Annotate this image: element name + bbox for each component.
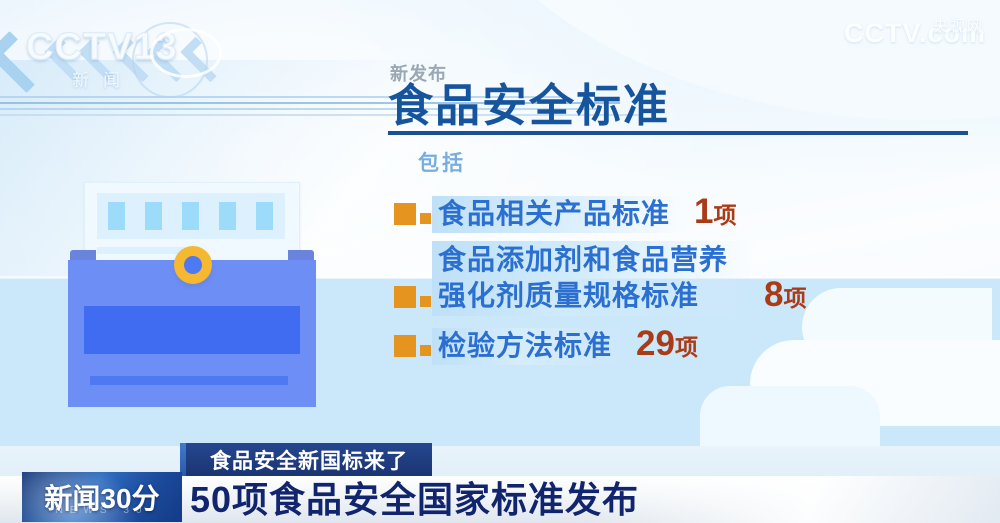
cloud-shape-c — [700, 386, 880, 446]
cctv-logo-text: CCTV — [26, 26, 133, 68]
folder-inner-panel — [84, 306, 300, 354]
lower-third-gloss — [580, 476, 1000, 523]
list-item: 食品添加剂和食品营养 强化剂质量规格标准 8项 — [392, 241, 992, 316]
cctv-com-watermark: 央视网 CCTV.com — [844, 18, 986, 49]
list-item-count-number: 29 — [636, 324, 675, 363]
standards-list: 食品相关产品标准 1项 食品添加剂和食品营养 强化剂质量规格标准 8项 — [392, 192, 992, 373]
list-item: 食品相关产品标准 1项 — [392, 192, 992, 233]
list-item-count-number: 1 — [694, 192, 713, 231]
list-item-label-line2: 强化剂质量规格标准 — [438, 278, 728, 314]
folder-clasp-ring-icon — [174, 246, 212, 284]
watermark-chinese-text: 央视网 — [933, 15, 984, 36]
list-item-count: 8项 — [764, 275, 806, 315]
list-item: 检验方法标准 29项 — [392, 324, 992, 365]
list-item-text-bar: 食品相关产品标准 — [432, 196, 684, 233]
list-item-count-unit: 项 — [713, 202, 736, 228]
document-text-line — [97, 247, 189, 254]
lower-third-headline: 50项食品安全国家标准发布 — [190, 478, 639, 522]
list-item-count-unit: 项 — [783, 285, 806, 311]
square-bullet-icon — [392, 333, 432, 361]
list-item-label: 食品相关产品标准 — [438, 197, 670, 231]
folder-bottom-line — [90, 376, 288, 385]
list-item-text-bar: 检验方法标准 — [432, 328, 626, 365]
graphic-title: 食品安全标准 — [388, 82, 670, 130]
program-logo: 新闻30分 NEWS 30 — [22, 472, 182, 522]
document-block — [256, 202, 273, 230]
list-item-label: 食品添加剂和食品营养 — [438, 242, 728, 278]
topic-tab-label: 食品安全新国标来了 — [210, 445, 408, 475]
document-block — [145, 202, 162, 230]
document-sheet-header-band — [97, 193, 285, 239]
list-item-label: 检验方法标准 — [438, 329, 612, 363]
square-bullet-icon — [392, 201, 432, 229]
logo-oval-shape — [150, 28, 222, 78]
document-folder-illustration — [62, 182, 322, 414]
square-bullet-icon — [392, 284, 432, 312]
title-divider — [388, 131, 968, 135]
program-logo-latin-label: NEWS 30 — [22, 505, 182, 516]
news-graphic-stage: CCTV13 新闻 央视网 CCTV.com 新发布 食品安全标准 — [0, 0, 1000, 523]
list-item-text-bar: 食品添加剂和食品营养 强化剂质量规格标准 — [432, 241, 754, 316]
list-item-count: 29项 — [636, 324, 698, 364]
document-block — [219, 202, 236, 230]
document-block — [182, 202, 199, 230]
document-block — [108, 202, 125, 230]
list-item-count-number: 8 — [764, 275, 783, 314]
list-item-count-unit: 项 — [675, 334, 698, 360]
includes-label: 包括 — [418, 147, 466, 177]
list-item-count: 1项 — [694, 192, 736, 232]
cctv13-logo: CCTV13 新闻 — [26, 26, 296, 96]
topic-tab: 食品安全新国标来了 — [186, 443, 432, 476]
